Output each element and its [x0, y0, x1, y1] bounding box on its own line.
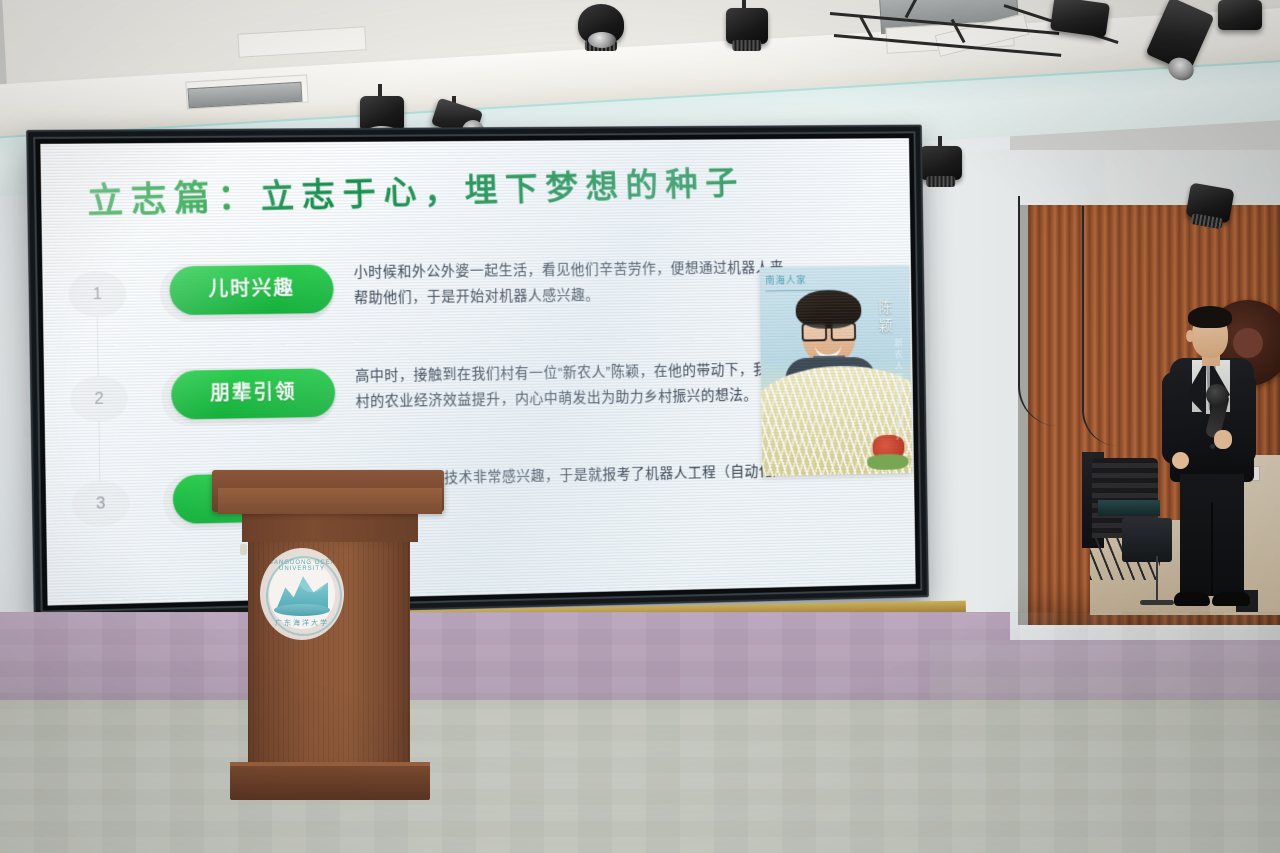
- pill-label: 儿时兴趣: [169, 265, 334, 316]
- photo-green-produce: [867, 454, 908, 470]
- screenshot-root: 立志篇：立志于心，埋下梦想的种子 1 儿时兴趣 小: [0, 0, 1280, 853]
- slide-title-prefix: 立志篇：: [86, 176, 261, 223]
- podium-top-face: [218, 488, 442, 514]
- power-cable: [1082, 206, 1118, 446]
- emblem-text-top: GUANGDONG OCEAN UNIVERSITY: [260, 560, 344, 572]
- floor-texture: [0, 612, 1280, 853]
- podium-clip: [240, 544, 247, 555]
- step-number: 1: [68, 271, 128, 320]
- pill-label: 朋辈引领: [171, 368, 336, 419]
- microphone-head-icon: [1206, 384, 1228, 406]
- slide: 立志篇：立志于心，埋下梦想的种子 1 儿时兴趣 小: [40, 138, 915, 605]
- speaker-person: [1148, 306, 1268, 621]
- speaker-shoe-left: [1174, 592, 1210, 606]
- par-light-icon: [920, 146, 962, 180]
- speaker-shoe-right: [1212, 592, 1250, 606]
- slide-title: 立志篇：立志于心，埋下梦想的种子: [86, 154, 746, 225]
- step-number-label: 1: [68, 271, 126, 318]
- power-cable: [1018, 196, 1060, 426]
- photo-watermark: 南海人家: [765, 271, 833, 291]
- row-body-text: 小时候和外公外婆一起生活，看见他们辛苦劳作，便想通过机器人来帮助他们，于是开始对…: [353, 255, 784, 311]
- speaker-hair: [1188, 306, 1232, 328]
- podium-neck: [242, 510, 418, 542]
- step-number: 2: [70, 375, 130, 424]
- step-number: 3: [72, 480, 132, 529]
- step-number-label: 2: [70, 375, 128, 422]
- podium: GUANGDONG OCEAN UNIVERSITY 广东海洋大学: [212, 470, 444, 810]
- screen-surface: 立志篇：立志于心，埋下梦想的种子 1 儿时兴趣 小: [40, 138, 915, 605]
- row-body-text: 高中时，接触到在我们村有一位“新农人”陈颖，在他的带动下，我们村的农业经济效益提…: [355, 357, 786, 415]
- speaker-arm-left: [1162, 372, 1188, 464]
- led-screen[interactable]: 立志篇：立志于心，埋下梦想的种子 1 儿时兴趣 小: [26, 125, 929, 620]
- speaker-hand-left: [1172, 452, 1189, 469]
- slide-pill: 朋辈引领: [171, 368, 336, 419]
- photo-caption-name: 陈颖: [876, 299, 895, 336]
- step-number-label: 3: [72, 480, 130, 527]
- par-light-icon: [726, 8, 768, 44]
- photo-caption-sub: 新农人带领乡村振兴: [892, 337, 906, 441]
- par-light-icon: [1185, 182, 1234, 223]
- emblem-text-bottom: 广东海洋大学: [260, 618, 344, 628]
- podium-base: [230, 766, 430, 800]
- slide-title-main: 立志于心，埋下梦想的种子: [260, 163, 745, 217]
- speaker-ear: [1186, 330, 1194, 342]
- speaker-arm-right: [1230, 372, 1256, 464]
- slide-photo: 南海人家 陈颖 新农人带领乡村振兴: [759, 266, 912, 477]
- speaker-hand-right: [1214, 430, 1232, 449]
- speaker-cone-icon: [588, 32, 616, 48]
- podium-emblem: GUANGDONG OCEAN UNIVERSITY 广东海洋大学: [260, 548, 344, 640]
- slide-pill: 儿时兴趣: [169, 265, 334, 316]
- speaker-leg-split: [1211, 502, 1213, 596]
- podium-top: [212, 470, 444, 512]
- moving-head-light-icon: [1218, 0, 1262, 30]
- glasses-icon: [802, 322, 857, 337]
